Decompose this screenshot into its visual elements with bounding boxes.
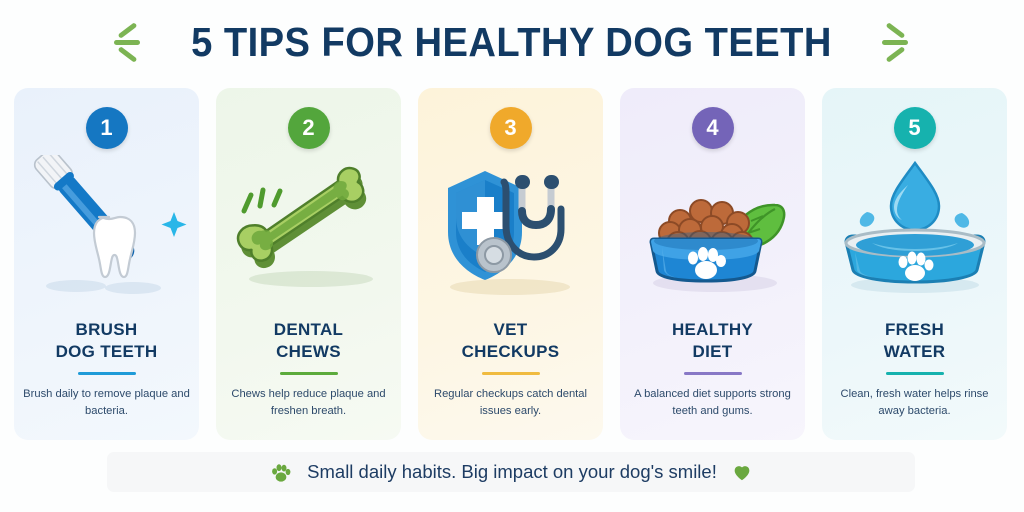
title-row: 5 TIPS FOR HEALTHY DOG TEETH (0, 14, 1024, 70)
tip-number-badge: 1 (86, 107, 128, 149)
tip-heading-line2: CHECKUPS (462, 341, 560, 363)
sparkle-dashes-icon (111, 19, 145, 65)
toothbrush-and-tooth-icon (14, 155, 199, 305)
tip-heading-line1: VET (462, 319, 560, 341)
tip-heading-line2: DOG TEETH (56, 341, 158, 363)
water-drop-bowl-icon (822, 155, 1007, 305)
footer-text: Small daily habits. Big impact on your d… (307, 461, 717, 483)
tip-divider (78, 372, 136, 375)
tip-heading-line1: BRUSH (56, 319, 158, 341)
tip-heading-line2: WATER (884, 341, 946, 363)
tip-heading-line1: DENTAL (274, 319, 343, 341)
tip-card-vet-checkups[interactable]: 3 (418, 88, 603, 440)
infographic-page: 5 TIPS FOR HEALTHY DOG TEETH 1 (0, 0, 1024, 512)
tip-heading-line2: DIET (672, 341, 753, 363)
sparkle-dashes-icon (879, 19, 913, 65)
heart-icon (731, 461, 753, 483)
tip-description: Clean, fresh water helps rinse away bact… (831, 386, 999, 421)
tip-divider (684, 372, 742, 375)
tip-heading: DENTAL CHEWS (274, 319, 343, 363)
food-bowl-leaf-icon (620, 155, 805, 305)
tip-heading: VET CHECKUPS (462, 319, 560, 363)
tip-heading-line1: FRESH (884, 319, 946, 341)
tip-card-fresh-water[interactable]: 5 (822, 88, 1007, 440)
tip-number-badge: 4 (692, 107, 734, 149)
tip-number-badge: 3 (490, 107, 532, 149)
tip-description: A balanced diet supports strong teeth an… (629, 386, 797, 421)
tip-card-dental-chews[interactable]: 2 DENTAL CHE (216, 88, 401, 440)
tips-card-list: 1 (14, 88, 1010, 440)
tip-divider (886, 372, 944, 375)
tip-description: Regular checkups catch dental issues ear… (427, 386, 595, 421)
page-title: 5 TIPS FOR HEALTHY DOG TEETH (192, 19, 833, 66)
tip-number-badge: 5 (894, 107, 936, 149)
tip-divider (482, 372, 540, 375)
tip-heading-line2: CHEWS (274, 341, 343, 363)
tip-card-healthy-diet[interactable]: 4 (620, 88, 805, 440)
footer-banner: Small daily habits. Big impact on your d… (107, 452, 915, 492)
paw-print-icon (269, 460, 293, 484)
tip-heading: FRESH WATER (884, 319, 946, 363)
tip-description: Brush daily to remove plaque and bacteri… (23, 386, 191, 421)
tip-heading: HEALTHY DIET (672, 319, 753, 363)
tip-card-brush-dog-teeth[interactable]: 1 (14, 88, 199, 440)
shield-stethoscope-icon (418, 155, 603, 305)
tip-heading: BRUSH DOG TEETH (56, 319, 158, 363)
tip-description: Chews help reduce plaque and freshen bre… (225, 386, 393, 421)
dental-chew-bone-icon (216, 155, 401, 305)
tip-heading-line1: HEALTHY (672, 319, 753, 341)
tip-number-badge: 2 (288, 107, 330, 149)
tip-divider (280, 372, 338, 375)
